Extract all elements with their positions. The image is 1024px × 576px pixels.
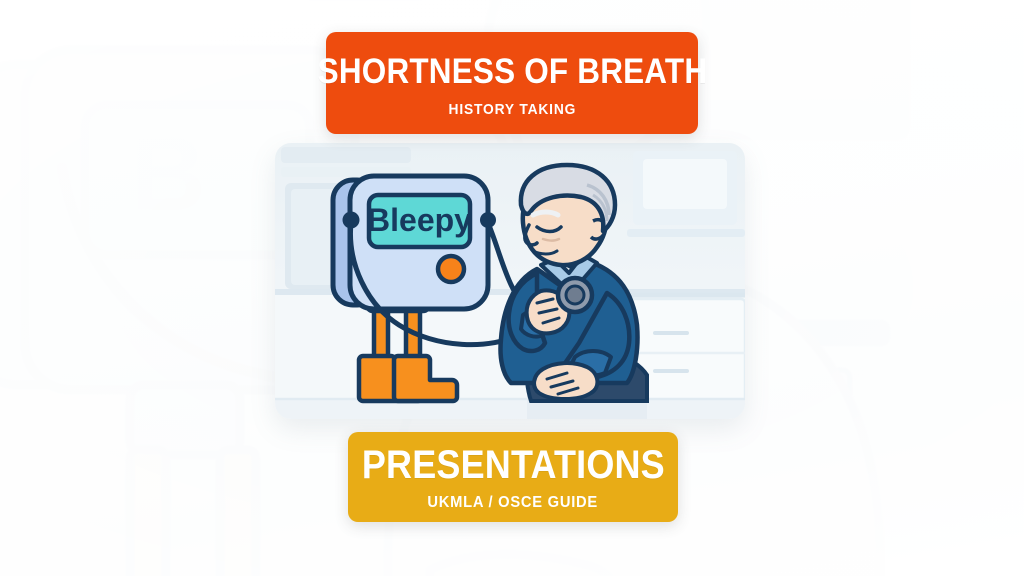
slide-canvas: B [0, 0, 1024, 576]
title-banner-top: SHORTNESS OF BREATH HISTORY TAKING [326, 32, 698, 134]
illustration-card: Bleepy [275, 143, 745, 419]
banner-top-title: SHORTNESS OF BREATH [317, 54, 707, 89]
banner-top-subtitle: HISTORY TAKING [448, 102, 576, 117]
banner-bottom-title: PRESENTATIONS [361, 445, 664, 485]
title-banner-bottom: PRESENTATIONS UKMLA / OSCE GUIDE [348, 432, 678, 522]
monitor-screen-label: Bleepy [367, 202, 472, 238]
wall-panel-right [627, 151, 745, 237]
banner-bottom-subtitle: UKMLA / OSCE GUIDE [428, 495, 599, 511]
